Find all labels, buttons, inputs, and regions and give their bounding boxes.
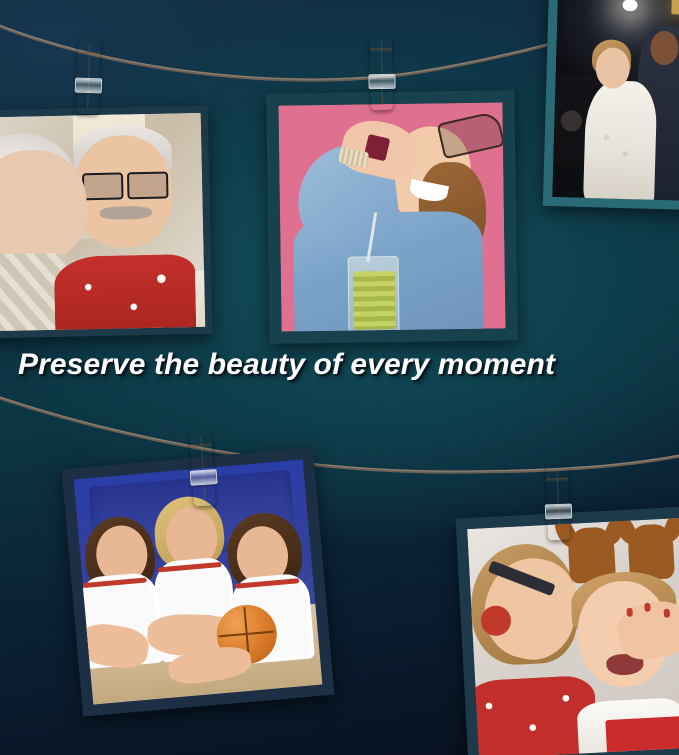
- clothespin-elderly[interactable]: [76, 40, 101, 115]
- clothespin-christmas[interactable]: [545, 466, 570, 541]
- photo-christmas-family[interactable]: [456, 506, 679, 755]
- photo-young-woman-pink[interactable]: [266, 90, 517, 343]
- photo-christmas-family-image: [467, 517, 679, 755]
- photo-wedding-couple-image: [552, 0, 679, 201]
- promo-banner: Preserve the beauty of every moment: [0, 0, 679, 755]
- photo-wedding-couple[interactable]: [543, 0, 679, 210]
- page-title: Preserve the beauty of every moment: [18, 348, 668, 382]
- clothespin-pink-girl[interactable]: [370, 36, 393, 110]
- photo-young-woman-pink-image: [278, 102, 505, 331]
- photo-elderly-couple-image: [0, 113, 205, 331]
- clothespin-basketball[interactable]: [189, 431, 216, 506]
- photo-elderly-couple[interactable]: [0, 106, 212, 339]
